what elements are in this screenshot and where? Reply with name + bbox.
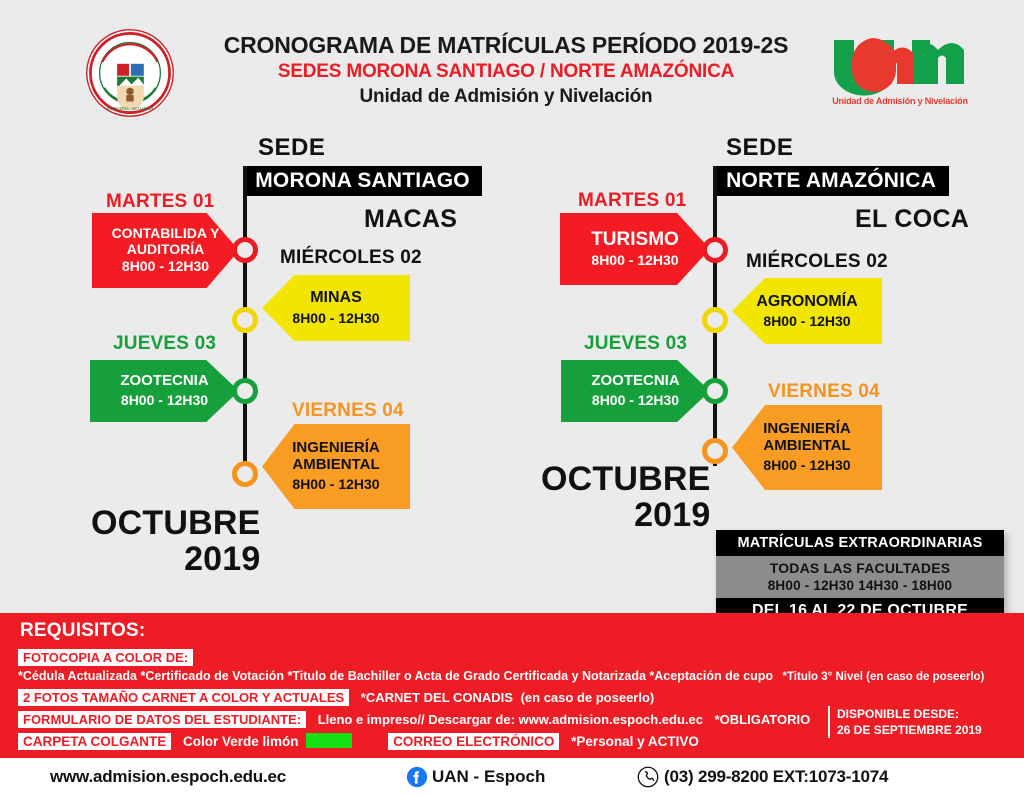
day-label-left-3: VIERNES 04 bbox=[292, 400, 404, 422]
requirements-row5-tag: CARPETA COLGANTE bbox=[18, 733, 171, 750]
career-line1-right-3: INGENIERÍA bbox=[763, 421, 851, 438]
timeline-dot-left-0 bbox=[232, 237, 258, 263]
career-time-left-2: 8H00 - 12H30 bbox=[121, 393, 208, 409]
month-name-right: OCTUBRE bbox=[541, 462, 711, 498]
career-line2-right-3: AMBIENTAL bbox=[763, 438, 850, 455]
career-line1-right-0: TURISMO bbox=[591, 229, 679, 250]
extraordinary-heading: MATRÍCULAS EXTRAORDINARIAS bbox=[716, 530, 1004, 556]
availability-line2: 26 DE SEPTIEMBRE 2019 bbox=[837, 722, 982, 738]
month-year-right: 2019 bbox=[541, 498, 711, 534]
phone-icon bbox=[637, 766, 659, 788]
day-label-left-2: JUEVES 03 bbox=[113, 333, 216, 355]
requirements-row-4: FORMULARIO DE DATOS DEL ESTUDIANTE: Llen… bbox=[18, 711, 810, 728]
event-chip-right-0: TURISMO 8H00 - 12H30 bbox=[560, 213, 710, 285]
sede-word-right: SEDE bbox=[726, 134, 793, 162]
footer-website[interactable]: www.admision.espoch.edu.ec bbox=[50, 767, 286, 787]
availability-line1: DISPONIBLE DESDE: bbox=[837, 706, 982, 722]
requirements-row4-tag: FORMULARIO DE DATOS DEL ESTUDIANTE: bbox=[18, 711, 306, 728]
career-line1-right-1: AGRONOMÍA bbox=[756, 293, 857, 311]
footer-facebook-handle[interactable]: UAN - Espoch bbox=[432, 767, 545, 787]
color-swatch-verde-limon bbox=[306, 733, 352, 748]
day-label-right-0: MARTES 01 bbox=[578, 190, 686, 212]
extraordinary-faculties: TODAS LAS FACULTADES bbox=[716, 560, 1004, 576]
requirements-row2-text: *Cédula Actualizada *Certificado de Vota… bbox=[18, 669, 773, 683]
day-label-right-1: MIÉRCOLES 02 bbox=[746, 251, 888, 273]
sede-name-left: MORONA SANTIAGO bbox=[243, 166, 482, 196]
requirements-row3-small: (en caso de poseerlo) bbox=[521, 690, 655, 705]
facebook-icon[interactable] bbox=[406, 766, 428, 788]
requirements-row4-text: Lleno e impreso// Descargar de: www.admi… bbox=[318, 712, 703, 727]
espoch-seal-icon: RIOBAMBA - ECUADOR bbox=[84, 27, 176, 119]
requirements-row4-text2: *OBLIGATORIO bbox=[715, 712, 811, 727]
requirements-row5-text: Color Verde limón bbox=[183, 734, 299, 749]
page-title: CRONOGRAMA DE MATRÍCULAS PERÍODO 2019-2S bbox=[186, 32, 826, 59]
timeline-dot-right-1 bbox=[702, 307, 728, 333]
requirements-title: REQUISITOS: bbox=[20, 620, 145, 642]
svg-text:RIOBAMBA - ECUADOR: RIOBAMBA - ECUADOR bbox=[107, 106, 154, 111]
event-chip-right-3: INGENIERÍA AMBIENTAL 8H00 - 12H30 bbox=[732, 405, 882, 490]
career-line1-right-2: ZOOTECNIA bbox=[591, 373, 679, 390]
day-label-left-1: MIÉRCOLES 02 bbox=[280, 247, 422, 269]
extraordinary-middle: TODAS LAS FACULTADES 8H00 - 12H30 14H30 … bbox=[716, 556, 1004, 598]
career-line1-left-0: CONTABILIDA Y bbox=[112, 226, 220, 242]
requirements-row3-text: *CARNET DEL CONADIS bbox=[361, 690, 513, 705]
month-year-left: 2019 bbox=[91, 542, 261, 578]
uan-logo-caption: Unidad de Admisión y Nivelación bbox=[820, 96, 980, 106]
sede-name-right: NORTE AMAZÓNICA bbox=[713, 166, 949, 196]
header-subtitle: SEDES MORONA SANTIAGO / NORTE AMAZÓNICA bbox=[186, 60, 826, 84]
footer-phone: (03) 299-8200 EXT:1073-1074 bbox=[664, 767, 888, 787]
event-chip-left-1: MINAS 8H00 - 12H30 bbox=[262, 275, 410, 341]
requirements-row-3: 2 FOTOS TAMAÑO CARNET A COLOR Y ACTUALES… bbox=[18, 689, 654, 706]
poster-canvas: RIOBAMBA - ECUADOR CRONOGRAMA DE MATRÍCU… bbox=[0, 0, 1024, 796]
career-line1-left-3: INGENIERÍA bbox=[292, 440, 380, 457]
extraordinary-hours: 8H00 - 12H30 14H30 - 18H00 bbox=[716, 578, 1004, 593]
requirements-row5-text2: *Personal y ACTIVO bbox=[571, 734, 699, 749]
requirements-row-2: *Cédula Actualizada *Certificado de Vota… bbox=[18, 669, 984, 683]
day-label-right-3: VIERNES 04 bbox=[768, 381, 880, 403]
career-line2-left-0: AUDITORÍA bbox=[127, 242, 205, 258]
day-label-left-0: MARTES 01 bbox=[106, 191, 214, 213]
day-label-right-2: JUEVES 03 bbox=[584, 333, 687, 355]
header-unit: Unidad de Admisión y Nivelación bbox=[186, 85, 826, 109]
timeline-dot-right-2 bbox=[702, 378, 728, 404]
city-left: MACAS bbox=[364, 205, 457, 234]
career-time-left-3: 8H00 - 12H30 bbox=[292, 477, 379, 493]
event-chip-right-2: ZOOTECNIA 8H00 - 12H30 bbox=[561, 360, 710, 422]
career-time-right-1: 8H00 - 12H30 bbox=[763, 314, 850, 330]
availability-note: DISPONIBLE DESDE: 26 DE SEPTIEMBRE 2019 bbox=[828, 706, 982, 738]
career-time-right-3: 8H00 - 12H30 bbox=[763, 458, 850, 474]
event-chip-left-0: CONTABILIDA Y AUDITORÍA 8H00 - 12H30 bbox=[92, 213, 239, 288]
career-time-right-0: 8H00 - 12H30 bbox=[591, 253, 678, 269]
event-chip-left-2: ZOOTECNIA 8H00 - 12H30 bbox=[90, 360, 239, 422]
timeline-dot-right-0 bbox=[702, 237, 728, 263]
event-chip-left-3: INGENIERÍA AMBIENTAL 8H00 - 12H30 bbox=[262, 424, 410, 509]
requirements-row2-small: *Titulo 3° Nivel (en caso de poseerlo) bbox=[783, 671, 985, 683]
event-chip-right-1: AGRONOMÍA 8H00 - 12H30 bbox=[732, 278, 882, 344]
timeline-dot-left-2 bbox=[232, 378, 258, 404]
career-line2-left-3: AMBIENTAL bbox=[292, 457, 379, 474]
sede-word-left: SEDE bbox=[258, 134, 325, 162]
requirements-row3-tag: 2 FOTOS TAMAÑO CARNET A COLOR Y ACTUALES bbox=[18, 689, 349, 706]
requirements-row-5: CARPETA COLGANTE Color Verde limón CORRE… bbox=[18, 733, 699, 750]
career-time-left-0: 8H00 - 12H30 bbox=[122, 259, 209, 275]
header-titles: CRONOGRAMA DE MATRÍCULAS PERÍODO 2019-2S… bbox=[186, 32, 826, 109]
requirements-row5-tag2: CORREO ELECTRÓNICO bbox=[388, 733, 559, 750]
career-time-right-2: 8H00 - 12H30 bbox=[592, 393, 679, 409]
timeline-dot-left-3 bbox=[232, 461, 258, 487]
poster-footer: www.admision.espoch.edu.ec UAN - Espoch … bbox=[0, 758, 1024, 796]
month-name-left: OCTUBRE bbox=[91, 506, 261, 542]
career-line1-left-1: MINAS bbox=[310, 289, 362, 307]
month-left: OCTUBRE 2019 bbox=[91, 506, 261, 577]
month-right: OCTUBRE 2019 bbox=[541, 462, 711, 533]
career-line1-left-2: ZOOTECNIA bbox=[120, 373, 208, 390]
requirements-section: REQUISITOS: FOTOCOPIA A COLOR DE: *Cédul… bbox=[0, 613, 1024, 758]
career-time-left-1: 8H00 - 12H30 bbox=[292, 311, 379, 327]
poster-header: RIOBAMBA - ECUADOR CRONOGRAMA DE MATRÍCU… bbox=[0, 0, 1024, 125]
timeline-dot-left-1 bbox=[232, 307, 258, 333]
requirements-row1-tag: FOTOCOPIA A COLOR DE: bbox=[18, 649, 193, 666]
requirements-row-1: FOTOCOPIA A COLOR DE: bbox=[18, 649, 193, 666]
city-right: EL COCA bbox=[855, 205, 969, 234]
